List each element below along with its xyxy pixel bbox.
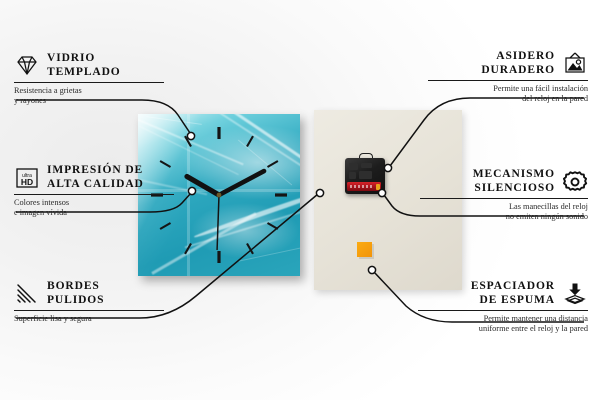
feature-desc-line1: Superficie lisa y segura bbox=[14, 314, 92, 323]
feature-desc-line1: Resistencia a grietas bbox=[14, 86, 82, 95]
feature-description: Superficie lisa y segura bbox=[14, 314, 164, 324]
clock-mechanism bbox=[345, 158, 385, 194]
product-image bbox=[132, 100, 462, 290]
mechanism-slot bbox=[361, 163, 372, 168]
feature-divider bbox=[14, 310, 164, 311]
feature-divider bbox=[14, 194, 174, 195]
feature-title-line2: DURADERO bbox=[481, 64, 555, 76]
feature-title: IMPRESIÓN DE ALTA CALIDAD bbox=[47, 164, 144, 191]
feature-desc-line1: Colores intensos bbox=[14, 198, 69, 207]
battery bbox=[347, 182, 381, 191]
feature-title-line1: VIDRIO bbox=[47, 52, 95, 64]
feature-divider bbox=[428, 80, 588, 81]
feature-desc-line1: Permite mantener una distancia bbox=[484, 314, 588, 323]
gear-icon bbox=[562, 170, 588, 194]
mechanism-slot bbox=[349, 172, 356, 179]
infographic-canvas: VIDRIO TEMPLADO Resistencia a grietas y … bbox=[0, 0, 600, 400]
feature-desc-line1: Permite una fácil instalación bbox=[493, 84, 588, 93]
feature-divider bbox=[418, 310, 588, 311]
feature-impresion-alta-calidad: ultra HD IMPRESIÓN DE ALTA CALIDAD Color… bbox=[14, 164, 174, 218]
feature-desc-line2: e imagen vívida bbox=[14, 208, 67, 217]
feature-title-line2: ALTA CALIDAD bbox=[47, 178, 144, 190]
feature-header: ESPACIADOR DE ESPUMA bbox=[418, 280, 588, 307]
feature-desc-line2: uniforme entre el reloj y la pared bbox=[479, 324, 588, 333]
feature-description: Resistencia a grietas y rayones bbox=[14, 86, 164, 106]
feature-desc-line1: Las manecillas del reloj bbox=[509, 202, 588, 211]
feature-title-line2: SILENCIOSO bbox=[474, 182, 555, 194]
feature-title-line2: DE ESPUMA bbox=[479, 294, 555, 306]
feature-header: MECANISMO SILENCIOSO bbox=[420, 168, 588, 195]
ultra-hd-icon-bottom-label: HD bbox=[21, 177, 33, 187]
diamond-icon bbox=[14, 54, 40, 78]
feature-title-line1: ESPACIADOR bbox=[471, 280, 555, 292]
mechanism-slot bbox=[349, 163, 358, 170]
feature-asidero-duradero: ASIDERO DURADERO Permite una fácil insta… bbox=[428, 50, 588, 104]
feature-desc-line2: y rayones bbox=[14, 96, 46, 105]
feature-header: VIDRIO TEMPLADO bbox=[14, 52, 164, 79]
arrow-down-layers-icon bbox=[562, 282, 588, 306]
feature-title-line1: BORDES bbox=[47, 280, 100, 292]
mechanism-slot bbox=[359, 171, 372, 179]
polished-edges-icon bbox=[14, 282, 40, 306]
feature-title: ASIDERO DURADERO bbox=[481, 50, 555, 77]
feature-espaciador-de-espuma: ESPACIADOR DE ESPUMA Permite mantener un… bbox=[418, 280, 588, 334]
feature-title: BORDES PULIDOS bbox=[47, 280, 104, 307]
feature-desc-line2: del reloj en la pared bbox=[522, 94, 588, 103]
feature-title-line1: MECANISMO bbox=[473, 168, 555, 180]
foam-spacer bbox=[357, 242, 372, 257]
battery-label bbox=[350, 185, 372, 188]
feature-description: Colores intensos e imagen vívida bbox=[14, 198, 174, 218]
feature-title-line2: PULIDOS bbox=[47, 294, 104, 306]
feature-divider bbox=[420, 198, 588, 199]
feature-title-line2: TEMPLADO bbox=[47, 66, 121, 78]
feature-header: BORDES PULIDOS bbox=[14, 280, 164, 307]
feature-title-line1: IMPRESIÓN DE bbox=[47, 164, 143, 176]
feature-desc-line2: no emiten ningún sonido bbox=[506, 212, 588, 221]
feature-header: ultra HD IMPRESIÓN DE ALTA CALIDAD bbox=[14, 164, 174, 191]
feature-title: VIDRIO TEMPLADO bbox=[47, 52, 121, 79]
feature-title-line1: ASIDERO bbox=[496, 50, 555, 62]
hanging-frame-icon bbox=[562, 52, 588, 76]
feature-title: MECANISMO SILENCIOSO bbox=[473, 168, 555, 195]
feature-description: Permite una fácil instalación del reloj … bbox=[428, 84, 588, 104]
feature-mecanismo-silencioso: MECANISMO SILENCIOSO Las manecillas del … bbox=[420, 168, 588, 222]
feature-header: ASIDERO DURADERO bbox=[428, 50, 588, 77]
mechanism-body bbox=[345, 158, 385, 194]
feature-description: Las manecillas del reloj no emiten ningú… bbox=[420, 202, 588, 222]
feature-description: Permite mantener una distancia uniforme … bbox=[418, 314, 588, 334]
battery-positive-terminal bbox=[376, 184, 380, 190]
feature-title: ESPACIADOR DE ESPUMA bbox=[471, 280, 555, 307]
feature-vidrio-templado: VIDRIO TEMPLADO Resistencia a grietas y … bbox=[14, 52, 164, 106]
ultra-hd-icon: ultra HD bbox=[14, 166, 40, 190]
feature-divider bbox=[14, 82, 164, 83]
feature-bordes-pulidos: BORDES PULIDOS Superficie lisa y segura bbox=[14, 280, 164, 324]
